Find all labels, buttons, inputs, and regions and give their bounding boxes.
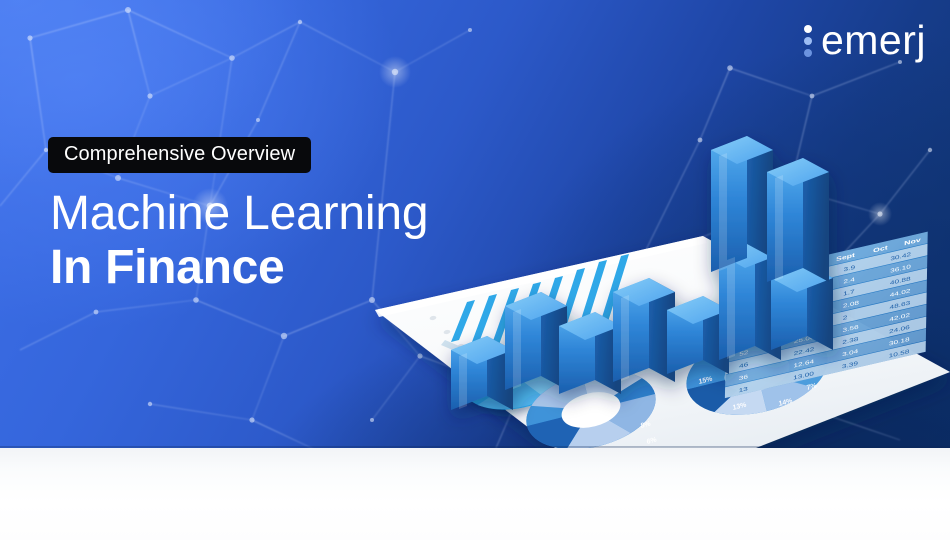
marketing-banner: 8% 6% 7% 14% 13% 13% 18% 6% 7% 14% 13% — [0, 0, 950, 540]
svg-text:2: 2 — [843, 314, 848, 321]
bottom-white-band — [0, 448, 950, 540]
logo-dots-icon — [804, 25, 812, 57]
headline-line-2: In Finance — [50, 240, 284, 296]
headline-line-1: Machine Learning — [50, 186, 428, 242]
overview-badge: Comprehensive Overview — [48, 137, 311, 173]
emerj-logo[interactable]: emerj — [804, 20, 926, 61]
logo-wordmark: emerj — [821, 20, 926, 61]
